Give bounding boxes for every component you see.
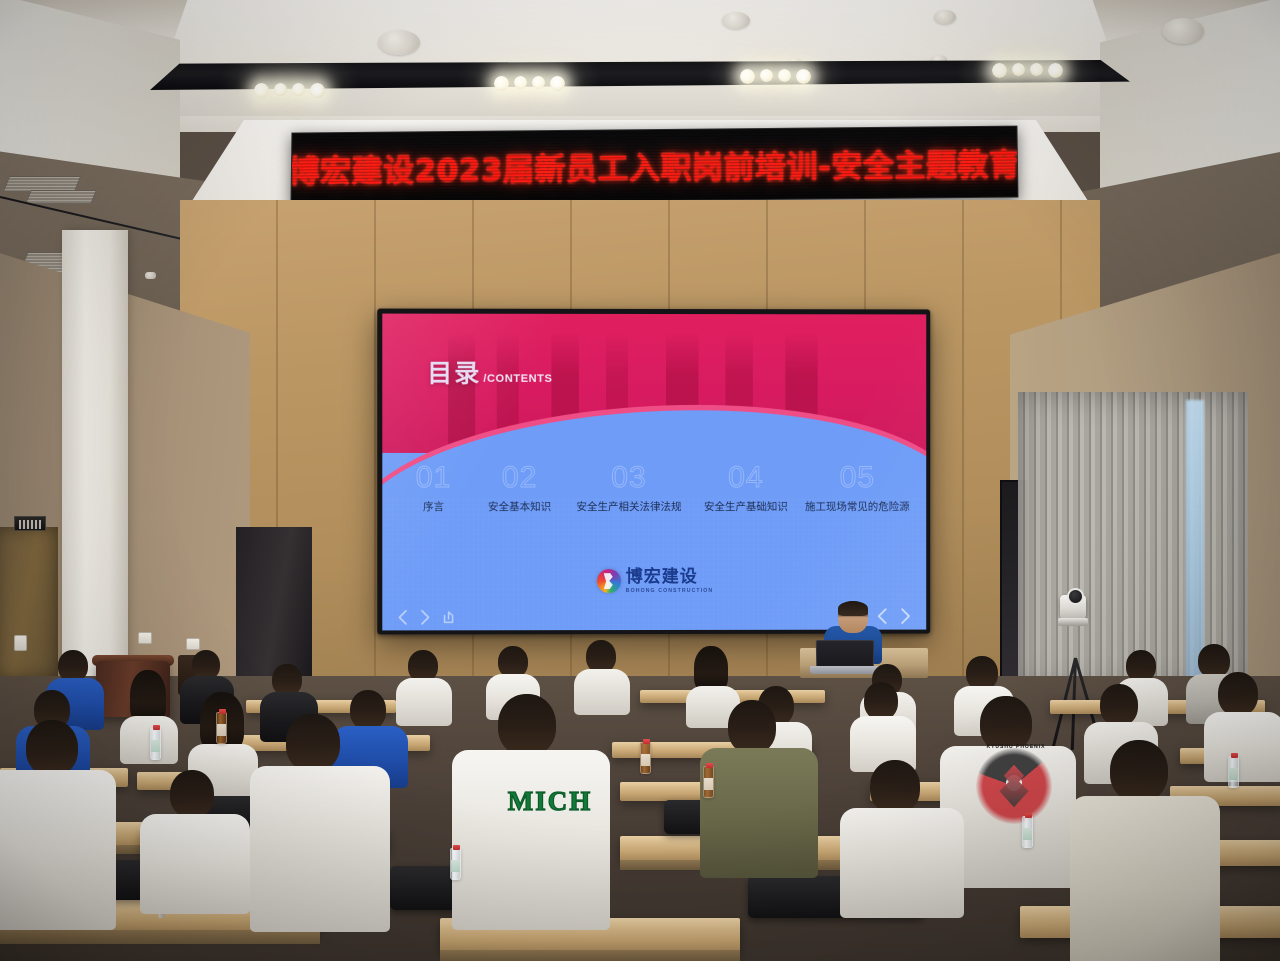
water-bottle <box>1022 816 1033 848</box>
spotlight <box>760 69 773 82</box>
logo-name-cn: 博宏建设 <box>626 569 698 586</box>
chevron-right-icon[interactable] <box>420 610 431 626</box>
chevron-left-icon[interactable] <box>876 608 888 625</box>
contents-number: 05 <box>800 463 914 493</box>
spotlight <box>778 69 791 82</box>
bottle-label <box>451 860 460 872</box>
tea-bottle <box>640 742 651 774</box>
person-torso <box>250 766 390 932</box>
bottle-label <box>151 740 160 752</box>
spotlight <box>494 76 509 91</box>
person-torso <box>140 814 250 914</box>
led-banner: 博宏建设2023届新员工入职岗前培训-安全主题教育 <box>290 126 1018 205</box>
ceiling-recess-panel <box>148 0 1132 116</box>
person-head <box>1198 644 1230 678</box>
bottle-label <box>217 724 226 736</box>
window-daylight-gap <box>1186 400 1204 685</box>
water-bottle <box>150 728 161 760</box>
spotlight <box>292 83 305 96</box>
person-torso <box>1070 796 1220 961</box>
ceiling-smoke-detector <box>722 12 750 29</box>
person-head <box>870 760 920 814</box>
ptz-camera-icon <box>1060 595 1086 619</box>
contents-number: 03 <box>567 463 692 493</box>
presenter-hair <box>838 601 868 616</box>
person-torso <box>120 716 178 764</box>
light-switch-plate <box>14 635 27 651</box>
person-torso <box>700 748 818 878</box>
person-head <box>728 700 776 754</box>
contents-item-02[interactable]: 02 安全基本知识 <box>473 462 567 513</box>
person-head <box>26 720 78 776</box>
ceiling-speaker <box>934 10 956 24</box>
contents-item-05[interactable]: 05 施工现场常见的危险源 <box>800 463 914 514</box>
wall-sign-plaque <box>14 516 46 531</box>
slide-controls-left[interactable] <box>398 610 456 626</box>
person-torso <box>0 770 116 930</box>
share-icon[interactable] <box>442 611 456 625</box>
contents-label: 施工现场常见的危险源 <box>800 498 914 513</box>
camera-mount <box>1058 618 1088 626</box>
logo-name-en: BOHONG CONSTRUCTION <box>626 588 713 594</box>
chevron-left-icon[interactable] <box>398 610 409 626</box>
spotlight <box>254 83 269 98</box>
training-room-scene: 博宏建设2023届新员工入职岗前培训-安全主题教育 目录 /CONTENTS 0… <box>0 0 1280 961</box>
smoke-detector <box>145 272 156 279</box>
spotlight <box>274 83 287 96</box>
bottle-cap <box>153 725 160 730</box>
person-head <box>498 694 556 756</box>
bottle-cap <box>706 763 713 768</box>
presenter-laptop-base <box>810 666 880 674</box>
shirt-mich-text: MICH <box>495 786 605 817</box>
spotlight-cluster <box>254 83 325 98</box>
spotlight <box>1012 63 1025 76</box>
presentation-display[interactable]: 目录 /CONTENTS 01 序言 02 安全基本知识 03 安全生产相关法律… <box>377 309 930 635</box>
wall-outlet-plate <box>186 638 200 650</box>
bottle-cap <box>453 845 460 850</box>
tea-bottle <box>216 712 227 744</box>
spotlight <box>1030 63 1043 76</box>
contents-label: 序言 <box>394 499 472 514</box>
desk-edge <box>0 930 320 944</box>
contents-label: 安全生产基础知识 <box>691 498 800 513</box>
person-torso <box>574 669 630 715</box>
spotlight-cluster <box>494 76 565 91</box>
chevron-right-icon[interactable] <box>899 608 911 625</box>
bottle-label <box>704 778 713 790</box>
shirt-phoenix-text: KYUSHU PHOENIX <box>986 744 1046 750</box>
air-vent <box>25 190 97 204</box>
spotlight <box>1048 63 1063 78</box>
person-torso <box>396 678 452 726</box>
led-banner-text: 博宏建设2023届新员工入职岗前培训-安全主题教育 <box>290 139 1018 191</box>
slide-company-logo: 博宏建设 BOHONG CONSTRUCTION <box>382 568 926 594</box>
contents-item-04[interactable]: 04 安全生产基础知识 <box>691 463 800 514</box>
person-head <box>1110 740 1168 802</box>
person-torso <box>840 808 964 918</box>
spotlight <box>992 63 1007 78</box>
room-pillar-left <box>62 230 128 700</box>
presenter-laptop-screen <box>816 640 874 668</box>
person-head <box>1218 672 1258 716</box>
bottle-cap <box>219 709 226 714</box>
bottle-label <box>1023 828 1032 840</box>
person-head <box>170 770 214 818</box>
slide-contents-list: 01 序言 02 安全基本知识 03 安全生产相关法律法规 04 安全生产基础知… <box>382 462 926 513</box>
contents-item-03[interactable]: 03 安全生产相关法律法规 <box>567 463 692 514</box>
person-head <box>350 690 386 730</box>
bottle-cap <box>1025 813 1032 818</box>
spotlight <box>796 69 811 84</box>
person-head <box>286 714 340 772</box>
spotlight <box>310 83 325 98</box>
spotlight <box>532 76 545 89</box>
contents-label: 安全基本知识 <box>473 499 567 514</box>
bottle-label <box>1229 768 1238 780</box>
person-head <box>1100 684 1138 726</box>
slide-title-cn: 目录 <box>427 353 481 389</box>
person-head <box>864 682 898 720</box>
water-bottle <box>450 848 461 880</box>
tea-bottle <box>703 766 714 798</box>
shirt-phoenix-graphic <box>976 748 1052 824</box>
desk-edge <box>440 950 740 961</box>
contents-number: 01 <box>394 462 472 492</box>
slide-contents-page[interactable]: 目录 /CONTENTS 01 序言 02 安全基本知识 03 安全生产相关法律… <box>382 314 926 631</box>
bohong-logo-mark-icon <box>597 569 621 593</box>
contents-number: 04 <box>691 463 800 493</box>
ceiling-speaker <box>378 30 420 55</box>
wall-outlet-plate <box>138 632 152 644</box>
spotlight-cluster <box>740 69 811 84</box>
slide-title: 目录 /CONTENTS <box>427 353 552 389</box>
contents-number: 02 <box>473 462 567 492</box>
contents-item-01[interactable]: 01 序言 <box>394 462 472 513</box>
contents-label: 安全生产相关法律法规 <box>567 499 692 514</box>
slide-title-en: /CONTENTS <box>483 372 552 384</box>
spotlight <box>740 69 755 84</box>
spotlight <box>514 76 527 89</box>
ceiling-speaker <box>1162 18 1204 44</box>
doorway-left <box>236 527 312 677</box>
water-bottle <box>1228 756 1239 788</box>
bottle-cap <box>643 739 650 744</box>
spotlight <box>550 76 565 91</box>
person-torso <box>452 750 610 930</box>
person-torso <box>1204 712 1280 782</box>
person-head <box>966 656 998 690</box>
bottle-label <box>641 754 650 766</box>
wall-alcove-left <box>0 527 58 679</box>
spotlight-cluster <box>992 63 1063 78</box>
bottle-cap <box>1231 753 1238 758</box>
